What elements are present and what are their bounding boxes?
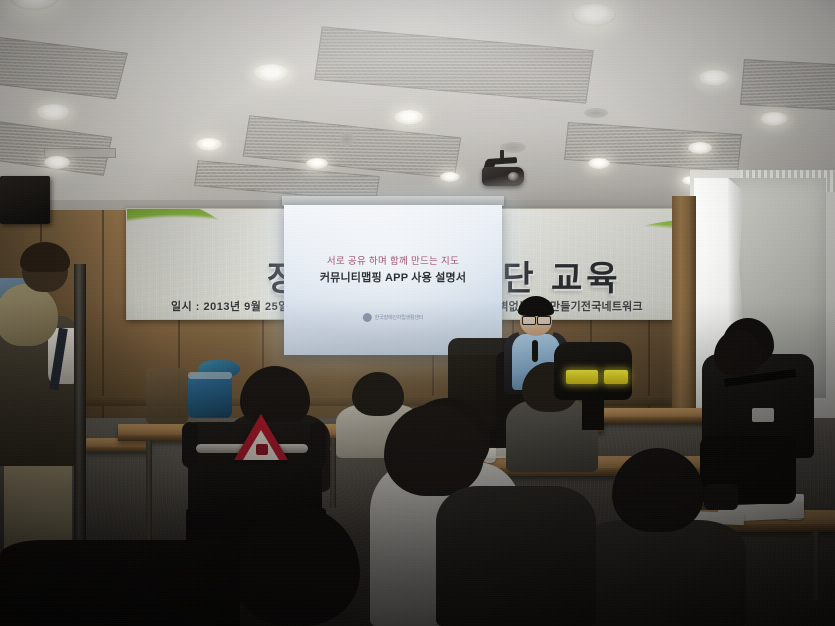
reflective-strip xyxy=(566,370,598,384)
drum-rim xyxy=(188,372,232,379)
ceiling-downlight xyxy=(440,172,460,182)
table-leg xyxy=(146,440,152,550)
ceiling-downlight xyxy=(44,156,70,169)
slide-headline: 서로 공유 하며 함께 만드는 지도 xyxy=(284,253,502,267)
wall-speaker xyxy=(0,176,50,224)
ceiling-downlight xyxy=(572,4,616,26)
logo-mark-icon xyxy=(363,313,372,322)
projector-lens xyxy=(508,172,519,181)
wall-pillar xyxy=(672,196,696,432)
ceiling-downlight xyxy=(253,64,289,82)
glasses-icon xyxy=(522,316,536,325)
microphone-icon xyxy=(532,340,538,362)
ceiling-downlight xyxy=(760,112,788,126)
ceiling-downlight xyxy=(10,0,58,10)
person-head xyxy=(714,330,762,376)
ceiling-vent xyxy=(243,115,462,179)
ceiling-sprinkler xyxy=(340,132,354,146)
reflective-strip xyxy=(604,370,628,384)
person-head xyxy=(384,404,484,496)
ceiling-slot xyxy=(44,148,116,158)
ceiling-vent xyxy=(0,37,128,100)
slide-logo: 한국장애인자립생활센터 xyxy=(363,313,423,322)
ceiling-downlight xyxy=(36,104,70,121)
presenter-hair xyxy=(518,296,554,316)
ceiling-projector xyxy=(480,150,526,190)
audience-member xyxy=(436,486,596,626)
ceiling-vent xyxy=(314,26,594,103)
wheelchair-push-handle xyxy=(310,422,326,468)
projection-screen: 서로 공유 하며 함께 만드는 지도 커뮤니티맵핑 APP 사용 설명서 한국장… xyxy=(284,205,502,355)
ceiling-downlight xyxy=(196,138,222,151)
ceiling-fixture-hole xyxy=(584,108,608,118)
slide-subtitle: 커뮤니티맵핑 APP 사용 설명서 xyxy=(284,269,502,285)
ceiling-vent xyxy=(564,122,742,172)
foreground-silhouette xyxy=(0,540,240,626)
person-hair xyxy=(20,242,70,272)
slide-logo-text: 한국장애인자립생활센터 xyxy=(375,314,423,321)
person-head xyxy=(612,448,704,532)
wheelchair-caster xyxy=(704,484,738,510)
shoulder-bag xyxy=(0,284,58,346)
ceiling-downlight xyxy=(588,158,610,169)
support-pole xyxy=(74,264,86,564)
banner-date-label: 일시 : 2013년 9월 25일 xyxy=(171,298,289,314)
headrest-post xyxy=(582,396,604,430)
ceiling-downlight xyxy=(394,110,424,125)
warning-triangle-center xyxy=(256,444,268,455)
table-leg xyxy=(812,530,820,600)
wheelchair-label xyxy=(752,408,774,422)
standing-person xyxy=(0,236,112,592)
glasses-icon xyxy=(537,316,551,325)
ceiling-vent xyxy=(740,59,835,111)
ceiling-downlight xyxy=(306,158,328,169)
ceiling-downlight xyxy=(698,70,730,86)
photograph-scene: 장벽 사단 교육 일시 : 2013년 9월 25일 주관 : 장벽없는마을만들… xyxy=(0,0,835,626)
audience-member xyxy=(576,520,746,626)
ceiling-vent xyxy=(0,120,112,176)
person-head xyxy=(352,372,404,416)
ceiling-downlight xyxy=(688,142,712,154)
wheelchair-push-handle xyxy=(182,422,198,468)
